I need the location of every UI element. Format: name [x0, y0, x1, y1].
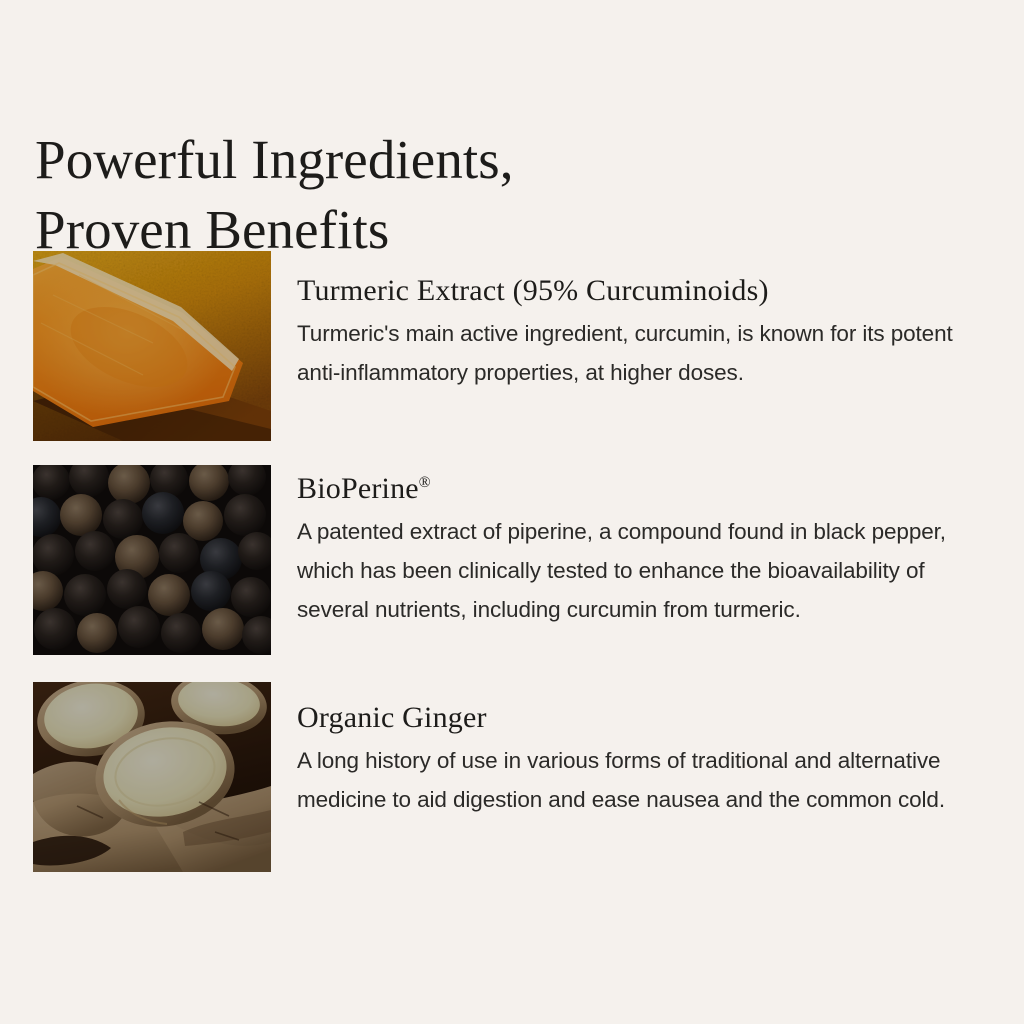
ingredient-title-text: BioPerine	[297, 472, 419, 505]
registered-trademark-icon: ®	[419, 474, 431, 491]
ingredient-title: BioPerine®	[297, 471, 957, 506]
ingredients-page: Powerful Ingredients, Proven Benefits	[0, 0, 1024, 1024]
page-title-line-1: Powerful Ingredients,	[35, 125, 735, 195]
organic-ginger-photo	[33, 682, 271, 872]
turmeric-root-image	[33, 251, 271, 441]
turmeric-root-photo	[33, 251, 271, 441]
list-item: BioPerine® A patented extract of piperin…	[33, 465, 993, 655]
ingredient-title-text: Organic Ginger	[297, 701, 487, 734]
black-peppercorns-image	[33, 465, 271, 655]
ingredient-list: Turmeric Extract (95% Curcuminoids) Turm…	[33, 251, 993, 896]
ingredient-copy: Organic Ginger A long history of use in …	[271, 682, 957, 820]
ingredient-description: A long history of use in various forms o…	[297, 742, 957, 819]
list-item: Organic Ginger A long history of use in …	[33, 682, 993, 872]
ingredient-title-text: Turmeric Extract (95% Curcuminoids)	[297, 274, 769, 307]
ingredient-title: Turmeric Extract (95% Curcuminoids)	[297, 273, 957, 308]
ingredient-title: Organic Ginger	[297, 700, 957, 735]
page-title: Powerful Ingredients, Proven Benefits	[35, 125, 735, 265]
ingredient-description: Turmeric's main active ingredient, curcu…	[297, 315, 957, 392]
ingredient-copy: BioPerine® A patented extract of piperin…	[271, 465, 957, 629]
ingredient-description: A patented extract of piperine, a compou…	[297, 513, 957, 629]
black-peppercorns-photo	[33, 465, 271, 655]
ingredient-copy: Turmeric Extract (95% Curcuminoids) Turm…	[271, 251, 957, 393]
organic-ginger-image	[33, 682, 271, 872]
list-item: Turmeric Extract (95% Curcuminoids) Turm…	[33, 251, 993, 441]
